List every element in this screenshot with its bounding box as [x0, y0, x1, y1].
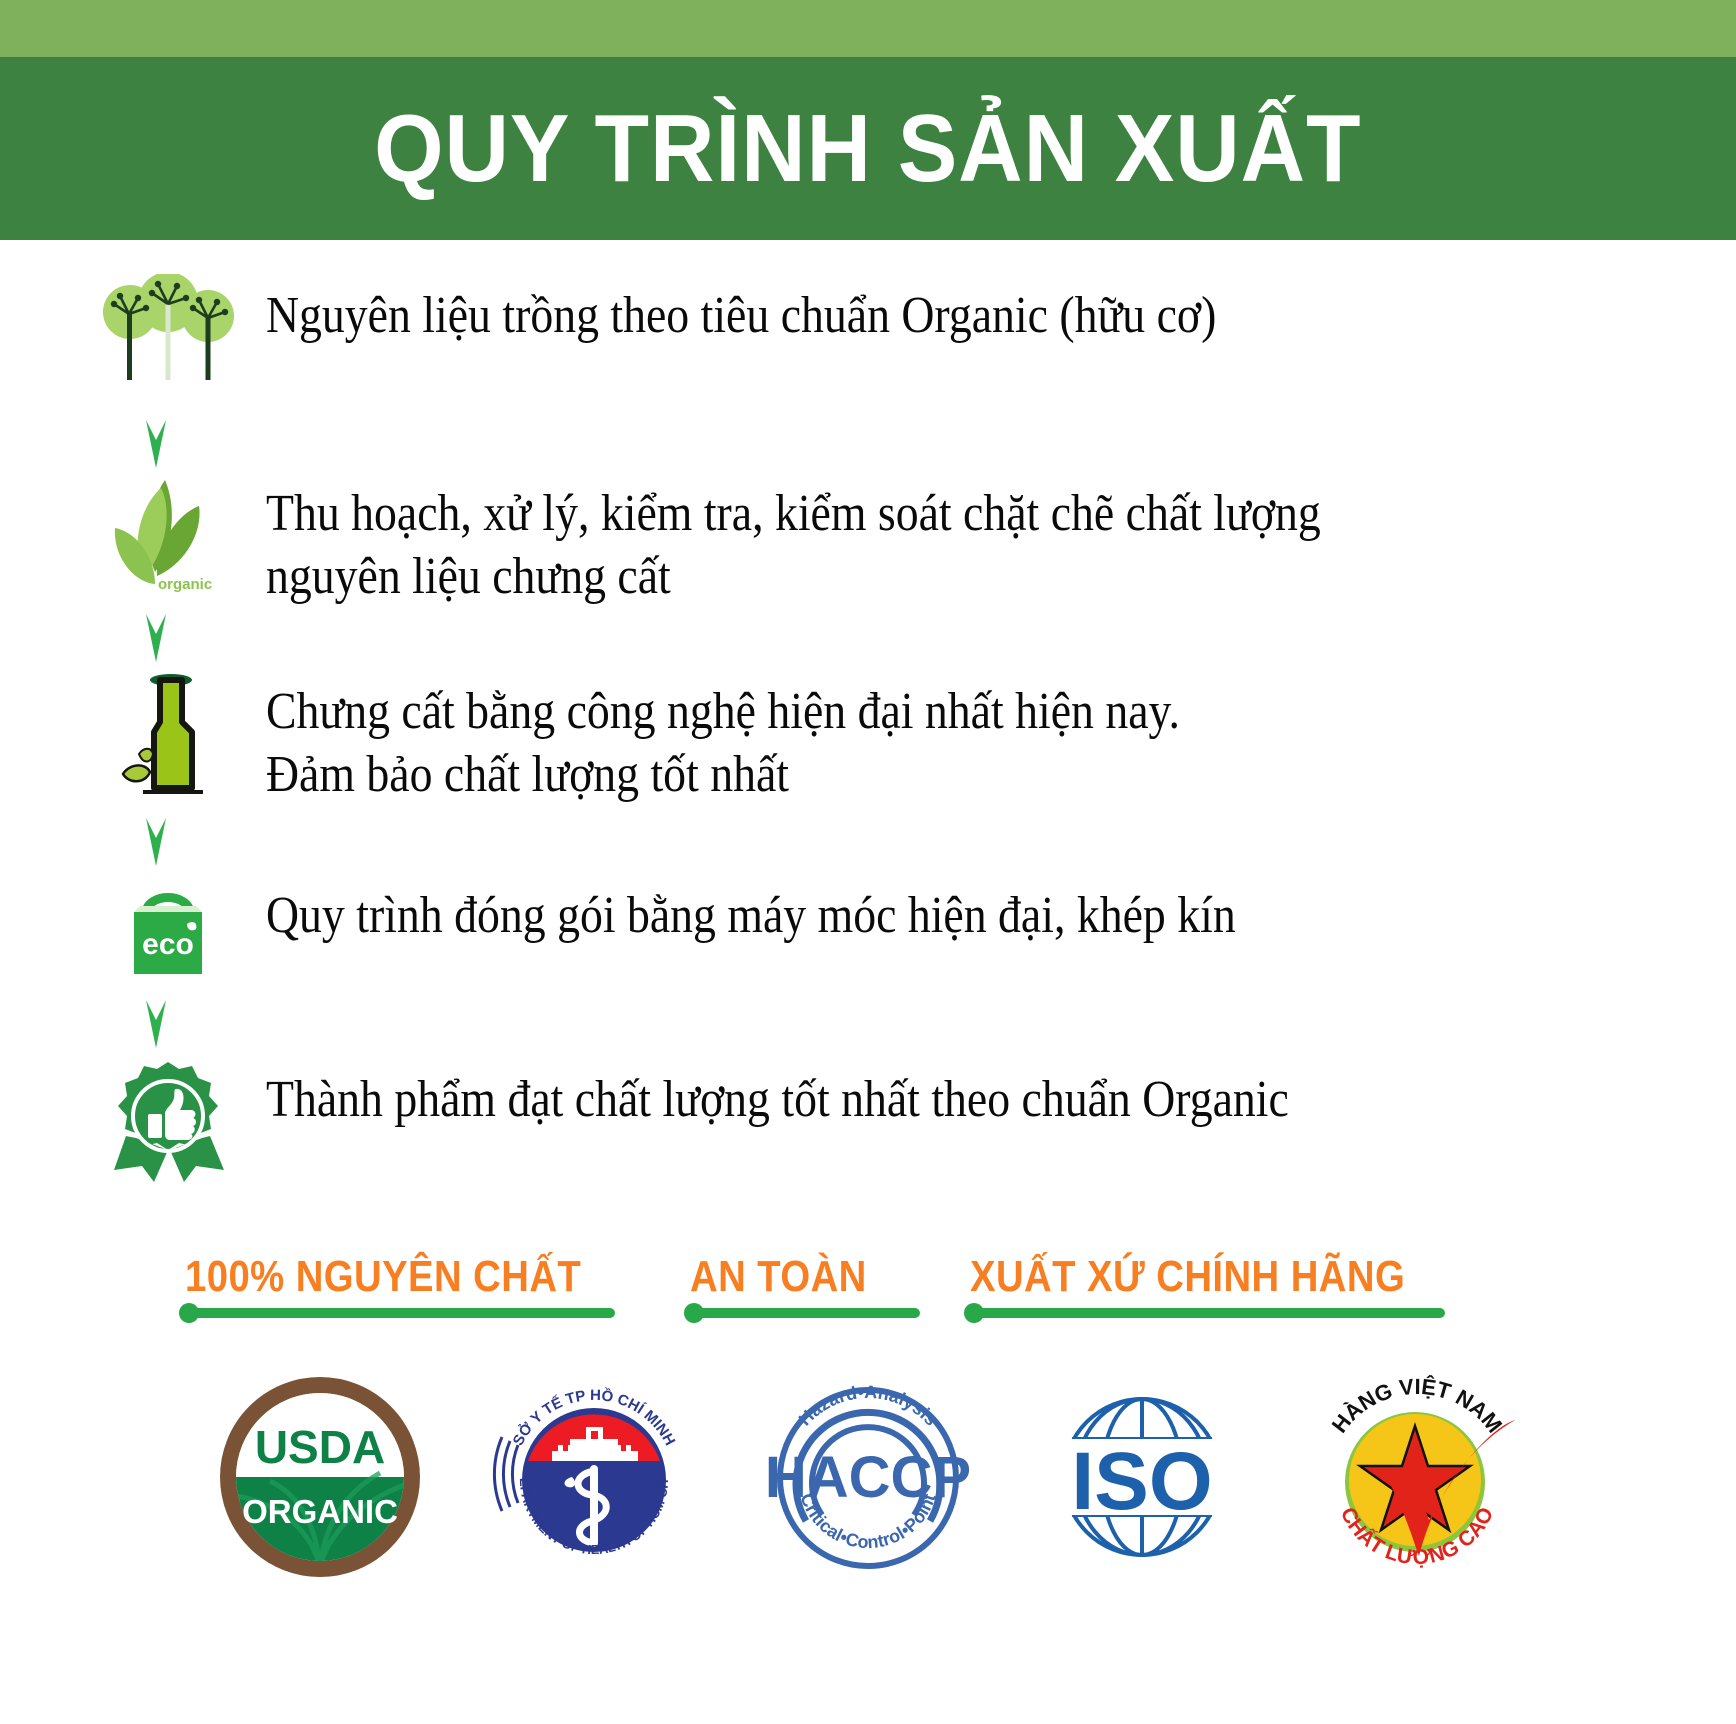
oil-bottle-icon — [88, 670, 248, 805]
feature-2-label: AN TOÀN — [690, 1252, 867, 1302]
organic-leaves-label: organic — [158, 576, 212, 592]
header-top-strip — [0, 0, 1736, 57]
usda-organic-seal: USDA ORGANIC — [205, 1362, 435, 1592]
process-step-3: Chưng cất bằng công nghệ hiện đại nhất h… — [0, 670, 1736, 830]
feature-1: 100% NGUYÊN CHẤT — [185, 1252, 640, 1318]
arrow-connector-2 — [0, 622, 1736, 670]
process-step-5: Thành phẩm đạt chất lượng tốt nhất theo … — [0, 1058, 1736, 1208]
thumbs-up-badge-icon — [88, 1058, 248, 1183]
department-of-health-hcm-city-seal: SỞ Y TẾ TP HỒ CHÍ MINH DEPARTMENT OF HEA… — [479, 1362, 709, 1592]
iso-logo: ISO — [1027, 1362, 1257, 1592]
arrow-connector-3 — [0, 830, 1736, 874]
arrow-down-icon — [143, 418, 169, 470]
feature-3-rule — [970, 1308, 1445, 1318]
organic-leaves-icon: organic — [88, 472, 248, 592]
header-band: QUY TRÌNH SẢN XUẤT — [0, 57, 1736, 240]
iso-logo-main: ISO — [1071, 1436, 1212, 1527]
process-step-4-text: Quy trình đóng gói bằng máy móc hiện đại… — [266, 874, 1236, 947]
process-step-4: eco Quy trình đóng gói bằng máy móc hiện… — [0, 874, 1736, 1014]
three-trees-icon — [88, 274, 248, 384]
usda-seal-line1: USDA — [255, 1421, 385, 1473]
feature-2: AN TOÀN — [690, 1252, 920, 1318]
arrow-down-icon — [143, 816, 169, 868]
hang-viet-nam-chat-luong-cao-seal: HÀNG VIỆT NAM CHẤT LƯỢNG CAO — [1301, 1362, 1531, 1592]
arrow-down-icon — [143, 998, 169, 1050]
page-title: QUY TRÌNH SẢN XUẤT — [374, 94, 1361, 204]
eco-bag-label: eco — [142, 928, 194, 961]
feature-highlights: 100% NGUYÊN CHẤT AN TOÀN XUẤT XỨ CHÍNH H… — [0, 1252, 1736, 1318]
feature-1-label: 100% NGUYÊN CHẤT — [185, 1252, 581, 1302]
process-step-3-text: Chưng cất bằng công nghệ hiện đại nhất h… — [266, 670, 1180, 807]
process-step-2-text: Thu hoạch, xử lý, kiểm tra, kiểm soát ch… — [266, 472, 1321, 609]
arrow-down-icon — [143, 612, 169, 664]
process-step-1-text: Nguyên liệu trồng theo tiêu chuẩn Organi… — [266, 274, 1216, 347]
usda-seal-line2: ORGANIC — [242, 1493, 398, 1530]
feature-2-rule — [690, 1308, 920, 1318]
certification-logos: USDA ORGANIC — [0, 1362, 1736, 1592]
haccp-seal: HACCP Hazard•Analysis Critical•Control•P… — [753, 1362, 983, 1592]
process-step-2: organic Thu hoạch, xử lý, kiểm tra, kiểm… — [0, 472, 1736, 622]
feature-1-rule — [185, 1308, 615, 1318]
process-steps: Nguyên liệu trồng theo tiêu chuẩn Organi… — [0, 240, 1736, 1208]
arrow-connector-1 — [0, 424, 1736, 472]
process-step-5-text: Thành phẩm đạt chất lượng tốt nhất theo … — [266, 1058, 1289, 1131]
feature-3: XUẤT XỨ CHÍNH HÃNG — [970, 1252, 1470, 1318]
eco-bag-icon: eco — [88, 874, 248, 994]
process-step-1: Nguyên liệu trồng theo tiêu chuẩn Organi… — [0, 274, 1736, 424]
feature-3-label: XUẤT XỨ CHÍNH HÃNG — [970, 1252, 1405, 1302]
arrow-connector-4 — [0, 1014, 1736, 1058]
haccp-seal-main: HACCP — [766, 1445, 971, 1510]
haccp-seal-top-text: Hazard•Analysis — [794, 1381, 941, 1429]
